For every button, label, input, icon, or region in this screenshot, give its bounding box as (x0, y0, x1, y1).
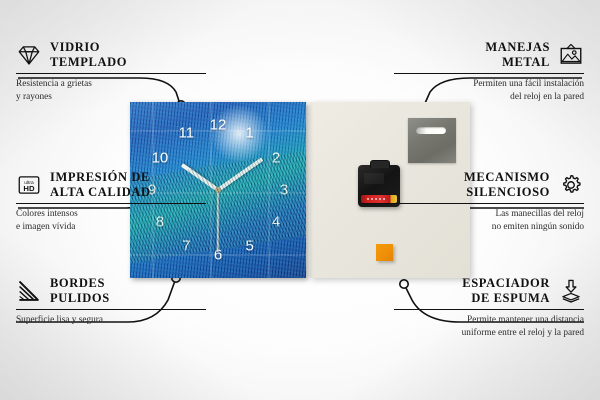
feature-header: ESPACIADOR DE ESPUMA (394, 276, 584, 306)
feature-title-line1: IMPRESIÓN DE (50, 170, 151, 185)
mechanism-detail (364, 173, 384, 184)
feature-title-line2: METAL (485, 55, 550, 70)
feature-header: MECANISMO SILENCIOSO (394, 170, 584, 200)
feature-vidrio-templado: VIDRIO TEMPLADO Resistencia a grietas y … (16, 40, 206, 103)
battery (361, 195, 397, 203)
clock-second-hand (217, 190, 219, 252)
infographic-canvas: 12 1 2 3 4 5 6 7 8 9 10 11 (0, 0, 600, 400)
foam-spacer-arrow-icon (558, 278, 584, 304)
feature-title-line2: ALTA CALIDAD (50, 185, 151, 200)
numeral-1: 1 (246, 125, 254, 140)
feature-title-line1: BORDES (50, 276, 110, 291)
feature-impresion-alta-calidad: ultra HD IMPRESIÓN DE ALTA CALIDAD Color… (16, 170, 206, 233)
clock-center-cap (215, 187, 221, 193)
feature-desc-line1: Permiten una fácil instalación (394, 78, 584, 91)
feature-header: VIDRIO TEMPLADO (16, 40, 206, 70)
numeral-2: 2 (272, 151, 280, 166)
numeral-12: 12 (210, 117, 227, 132)
numeral-11: 11 (179, 125, 195, 140)
feature-divider (16, 309, 206, 311)
feature-divider (394, 73, 584, 75)
numeral-5: 5 (246, 239, 254, 254)
feature-title-line2: SILENCIOSO (464, 185, 550, 200)
diamond-icon (16, 42, 42, 68)
svg-text:HD: HD (23, 184, 35, 193)
numeral-3: 3 (280, 183, 288, 198)
feature-espaciador-espuma: ESPACIADOR DE ESPUMA Permite mantener un… (394, 276, 584, 339)
mechanism-tab (370, 160, 390, 168)
feature-desc-line1: Resistencia a grietas (16, 78, 206, 91)
ultra-hd-icon: ultra HD (16, 172, 42, 198)
feature-title-line1: VIDRIO (50, 40, 127, 55)
numeral-4: 4 (272, 214, 280, 229)
feature-header: BORDES PULIDOS (16, 276, 206, 306)
feature-header: ultra HD IMPRESIÓN DE ALTA CALIDAD (16, 170, 206, 200)
feature-title-line2: DE ESPUMA (462, 291, 550, 306)
gear-icon (558, 172, 584, 198)
hanger-keyhole-slot (416, 127, 446, 134)
feature-desc-line1: Permite mantener una distancia (394, 314, 584, 327)
feature-title-line2: PULIDOS (50, 291, 110, 306)
feature-desc-line2: uniforme entre el reloj y la pared (394, 327, 584, 340)
feature-manejas-metal: MANEJAS METAL Permiten una fácil instala… (394, 40, 584, 103)
feature-title-line1: ESPACIADOR (462, 276, 550, 291)
metal-hanger-plate (408, 118, 456, 163)
feature-bordes-pulidos: BORDES PULIDOS Superficie lisa y segura (16, 276, 206, 327)
numeral-7: 7 (182, 239, 190, 254)
feature-mecanismo-silencioso: MECANISMO SILENCIOSO Las manecillas del … (394, 170, 584, 233)
numeral-6: 6 (214, 248, 222, 263)
feature-desc-line2: e imagen vívida (16, 221, 206, 234)
feature-divider (16, 203, 206, 205)
feature-desc-line1: Superficie lisa y segura (16, 314, 206, 327)
feature-desc-line2: y rayones (16, 91, 206, 104)
feature-divider (394, 203, 584, 205)
picture-frame-hanger-icon (558, 42, 584, 68)
feature-desc-line2: no emiten ningún sonido (394, 221, 584, 234)
numeral-10: 10 (152, 151, 169, 166)
feature-title-line1: MANEJAS (485, 40, 550, 55)
foam-spacer-square (376, 244, 393, 261)
feature-desc-line1: Colores intensos (16, 208, 206, 221)
feature-title-line1: MECANISMO (464, 170, 550, 185)
feature-desc-line2: del reloj en la pared (394, 91, 584, 104)
feature-desc-line1: Las manecillas del reloj (394, 208, 584, 221)
feature-title-line2: TEMPLADO (50, 55, 127, 70)
beveled-edge-icon (16, 278, 42, 304)
feature-header: MANEJAS METAL (394, 40, 584, 70)
feature-divider (394, 309, 584, 311)
feature-divider (16, 73, 206, 75)
